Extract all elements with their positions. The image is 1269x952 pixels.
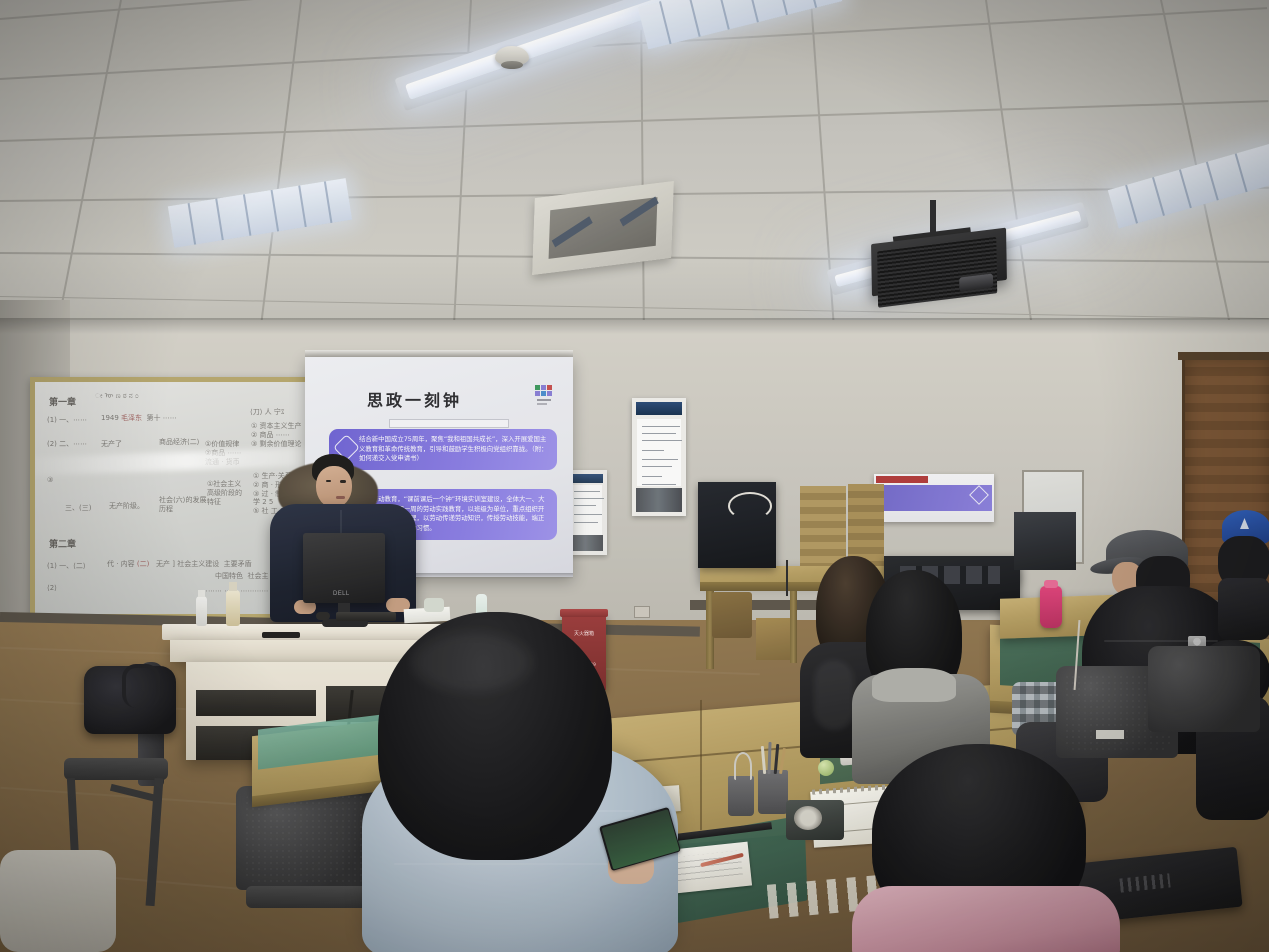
institution-logo-icon [535,385,555,407]
whiteboard-note: ⟨刀⟩ 人 宁ೱ [250,408,285,417]
slide-title: 思政一刻钟 [367,387,462,411]
notice-body [570,485,602,535]
bottle-cap [1044,580,1058,588]
whiteboard-note: 无产了 [101,440,122,449]
whiteboard-note: (2) 二、⋯⋯ [47,440,87,449]
backpack-strap [122,664,160,708]
pen-holder[interactable] [758,770,788,814]
bottle-pump [229,582,237,591]
back-equipment-panel [848,484,884,566]
notice-photo-strip [636,488,682,512]
mesh-chair[interactable] [1148,646,1266,786]
whiteboard-note: 中国特色 社会主 [215,572,268,581]
back-chair [712,592,752,638]
pink-jacket [852,886,1120,952]
slide-divider [389,419,509,428]
back-stool [756,618,790,660]
student-blue-cap [1218,510,1269,640]
scissors-holder[interactable] [728,776,754,816]
workbench-seam [700,700,702,830]
notice-header [569,474,603,483]
whiteboard-note: ᠎ೕ ᠎ᠦ ಣ ಠ ನ ೦ ᠎ ᠎ ᠎ [95,392,145,401]
notice-photo-strip [569,535,603,551]
instructor-eye [340,480,346,483]
notice-header [636,402,682,415]
whiteboard-note: ① 资本主义生产 ② 商品 ⋯⋯ ③ 剩余价值理论 [251,422,302,448]
student-hair-highlight [412,632,532,692]
student-foreground-far-left [0,840,120,952]
notice-body [637,419,681,486]
water-bottle[interactable] [1040,586,1062,628]
whiteboard-chapter-1: 第一章 [49,398,76,409]
chair-backrest [1148,646,1260,732]
whiteboard-note: ①社会主义 高级阶段的 特征 [207,480,242,506]
back-cabinet [1014,512,1076,570]
tape-roll [794,806,822,830]
back-equipment-cable [728,492,772,520]
chair-mesh-texture [244,794,368,882]
whiteboard-note: 无产阶级。 [109,502,144,511]
whiteboard-note: (1) 一、⟨二⟩ [47,562,86,571]
jacket-sheen [814,660,854,730]
back-equipment-panel [800,486,846,566]
bench-leg [790,591,797,663]
student-foreground-left [352,612,692,952]
instructor-mouth [336,496,345,499]
whiteboard-note: ③ [47,476,53,485]
whiteboard-note: 三、(三) [65,504,91,513]
mouse[interactable] [316,612,330,620]
desk-toy [818,760,834,776]
whiteboard-chapter-2: 第二章 [49,540,76,551]
hand-sanitizer-bottle[interactable] [226,590,240,626]
marker[interactable] [262,632,300,638]
bottle-pump [198,590,205,597]
ceiling-tile-grid [0,0,1269,340]
poster-header-band [876,476,928,483]
whiteboard-note: 1949 毛泽东 第十 ⋯⋯ [101,414,177,423]
hoodie-collar [872,668,956,702]
smoke-detector [495,46,529,66]
podium-shelf-opening [196,690,316,716]
chair-seat [64,758,168,780]
student-jacket [1218,578,1269,640]
whiteboard-note: 代 · 内容 (二) 无产 ] 社会主义建设 主要矛盾 [107,560,252,569]
instructor-face [316,466,352,508]
door-frame-top [1178,352,1269,360]
classroom-photo: 第一章 ᠎ೕ ᠎ᠦ ಣ ಠ ನ ೦ ᠎ ᠎ ᠎ (1) 一、⋯⋯ 1949 毛泽… [0,0,1269,952]
hanging-cable [786,560,788,596]
safety-notice-board [632,398,686,516]
student-bag [0,850,116,952]
scissors-icon [734,752,752,780]
monitor-brand-label: DELL [333,591,350,597]
wall-top-shadow [0,318,1269,334]
whiteboard-note: 社会⟨六⟩的发展 历程 [159,496,206,514]
hand-sanitizer-bottle[interactable] [196,596,207,626]
whiteboard-note: 商品经济⟨二⟩ [159,438,199,447]
drop-ceiling [0,0,1269,340]
chair-label [1096,730,1124,739]
tissue-pack[interactable] [424,598,444,612]
whiteboard-note: (1) 一、⋯⋯ [47,416,87,425]
whiteboard-note: ⟨2⟩ [47,584,57,593]
back-wall-poster [874,474,994,522]
